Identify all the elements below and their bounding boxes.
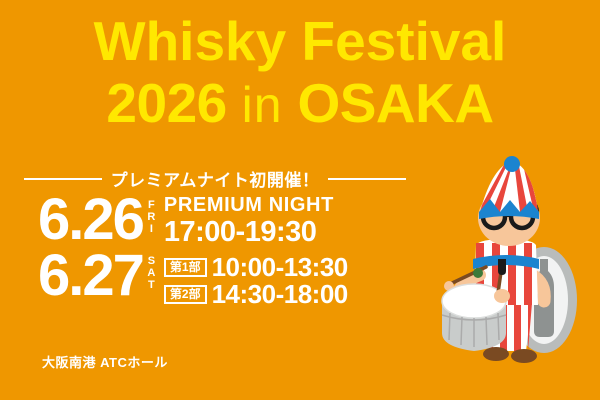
subtitle-rule-left <box>24 178 102 180</box>
session-row-part2: 第2部 14:30-18:00 <box>164 281 438 307</box>
premium-night-time: 17:00-19:30 <box>164 217 438 247</box>
session-badge-part2: 第2部 <box>164 285 207 304</box>
subtitle-rule-right <box>328 178 406 180</box>
mascot-svg <box>440 155 600 370</box>
mascot-left-shoe <box>483 347 509 361</box>
mascot-right-hand <box>494 289 510 303</box>
day-of-week-friday: F R I <box>145 200 158 236</box>
session-badge-part1: 第1部 <box>164 258 207 277</box>
poster-canvas: Whisky Festival 2026 in OSAKA プレミアムナイト初開… <box>0 0 600 400</box>
poster-title: Whisky Festival 2026 in OSAKA <box>0 14 600 131</box>
date-info-saturday: 第1部 10:00-13:30 第2部 14:30-18:00 <box>164 251 438 307</box>
session-time-part1: 10:00-13:30 <box>212 254 348 280</box>
dow-letter: I <box>145 224 158 236</box>
day-of-week-saturday: S A T <box>145 256 158 292</box>
date-info-friday: PREMIUM NIGHT 17:00-19:30 <box>164 195 438 247</box>
premium-night-label: PREMIUM NIGHT <box>164 195 438 216</box>
title-line-2: 2026 in OSAKA <box>0 76 600 131</box>
date-number-friday: 6.26 <box>38 193 143 247</box>
date-row-saturday: 6.27 S A T 第1部 10:00-13:30 第2部 14:30-18:… <box>38 249 438 307</box>
title-line-1: Whisky Festival <box>0 14 600 69</box>
title-year: 2026 <box>106 72 226 134</box>
session-time-part2: 14:30-18:00 <box>212 281 348 307</box>
title-in-word: in <box>227 77 298 133</box>
stick-grip <box>498 259 506 275</box>
dow-letter: R <box>145 212 158 224</box>
date-list: 6.26 F R I PREMIUM NIGHT 17:00-19:30 6.2… <box>38 193 438 307</box>
stick-accent <box>473 268 483 278</box>
dow-letter: T <box>145 280 158 292</box>
session-row-part1: 第1部 10:00-13:30 <box>164 254 438 280</box>
venue-label: 大阪南港 ATCホール <box>42 352 168 371</box>
date-row-friday: 6.26 F R I PREMIUM NIGHT 17:00-19:30 <box>38 193 438 247</box>
date-number-saturday: 6.27 <box>38 249 143 303</box>
mascot-right-shoe <box>511 349 537 363</box>
hat-band <box>479 199 539 219</box>
mascot-drummer-illustration <box>440 155 600 370</box>
mascot-hat <box>478 156 539 219</box>
title-city: OSAKA <box>297 72 493 134</box>
hat-pompom <box>504 156 520 172</box>
